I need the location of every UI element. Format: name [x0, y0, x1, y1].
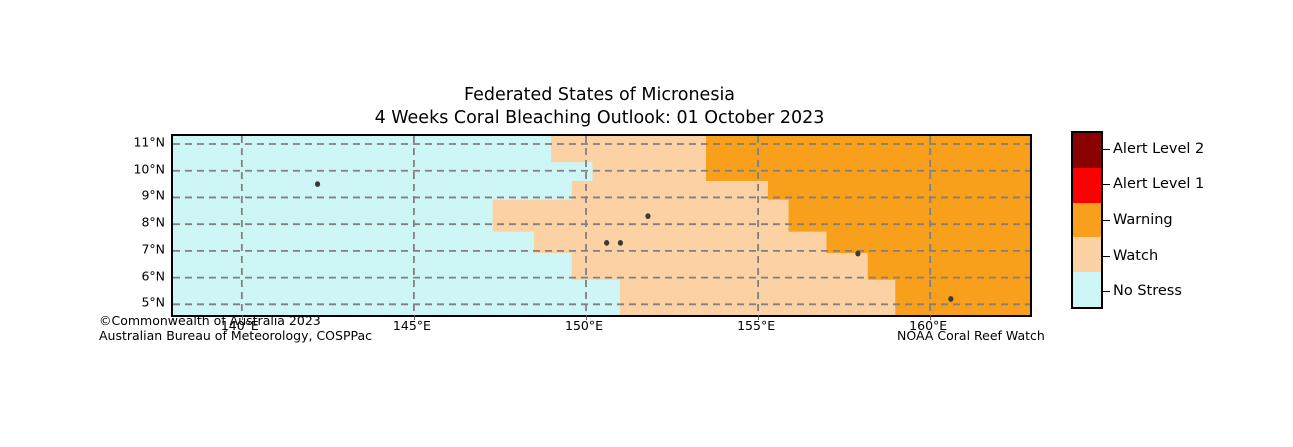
legend: Alert Level 2Alert Level 1WarningWatchNo…	[1071, 131, 1281, 313]
heatmap-cell	[868, 253, 1030, 281]
heatmap-cell	[551, 136, 707, 163]
island-marker	[618, 240, 623, 246]
heatmap-cell	[173, 253, 573, 281]
island-marker	[855, 251, 860, 257]
legend-swatch	[1073, 237, 1101, 272]
y-axis-labels: 11°N10°N9°N8°N7°N6°N5°N	[103, 134, 165, 313]
heatmap-cell	[173, 200, 494, 233]
heatmap-cell	[895, 280, 1030, 315]
x-axis-tick-label: 145°E	[393, 318, 431, 333]
legend-tick-mark	[1101, 220, 1110, 221]
copyright-line: ©Commonwealth of Australia 2023	[99, 314, 372, 329]
coral-bleaching-heatmap	[173, 136, 1030, 315]
page-title: Federated States of Micronesia	[171, 84, 1028, 107]
agency-line: Australian Bureau of Meteorology, COSPPa…	[99, 329, 372, 344]
heatmap-cell	[826, 232, 1030, 254]
chart-title-block: Federated States of Micronesia 4 Weeks C…	[171, 84, 1028, 130]
island-marker	[645, 213, 650, 219]
attribution-right: NOAA Coral Reef Watch	[897, 329, 1045, 344]
heatmap-cell	[592, 162, 707, 182]
legend-label: Warning	[1113, 212, 1173, 228]
legend-label: No Stress	[1113, 283, 1182, 299]
legend-label: Alert Level 2	[1113, 141, 1204, 157]
heatmap-cell	[173, 136, 552, 163]
legend-colorbar	[1071, 131, 1103, 309]
y-axis-tick-label: 7°N	[105, 241, 165, 256]
heatmap-cell	[706, 162, 1030, 182]
map-plot-frame	[171, 134, 1032, 317]
y-axis-tick-label: 8°N	[105, 215, 165, 230]
legend-tick-mark	[1101, 291, 1110, 292]
heatmap-cell	[493, 200, 790, 233]
heatmap-cell	[706, 136, 1030, 163]
heatmap-cell	[173, 162, 593, 182]
y-axis-tick-label: 6°N	[105, 268, 165, 283]
x-axis-tick-label: 150°E	[565, 318, 603, 333]
island-marker	[315, 181, 320, 187]
y-axis-tick-label: 11°N	[105, 135, 165, 150]
y-axis-tick-label: 5°N	[105, 295, 165, 310]
legend-swatch	[1073, 203, 1101, 238]
legend-swatch	[1073, 168, 1101, 203]
island-marker	[948, 296, 953, 302]
legend-label: Watch	[1113, 248, 1158, 264]
island-marker	[604, 240, 609, 246]
y-axis-tick-label: 10°N	[105, 161, 165, 176]
x-axis-tick-label: 155°E	[737, 318, 775, 333]
page-subtitle: 4 Weeks Coral Bleaching Outlook: 01 Octo…	[171, 107, 1028, 130]
legend-tick-mark	[1101, 149, 1110, 150]
legend-tick-mark	[1101, 184, 1110, 185]
legend-swatch	[1073, 272, 1101, 307]
legend-label: Alert Level 1	[1113, 176, 1204, 192]
map-svg	[173, 136, 1030, 315]
legend-swatch	[1073, 133, 1101, 168]
heatmap-cell	[173, 280, 621, 315]
legend-tick-mark	[1101, 256, 1110, 257]
heatmap-cell	[789, 200, 1030, 233]
attribution-left: ©Commonwealth of Australia 2023 Australi…	[99, 314, 372, 343]
y-axis-tick-label: 9°N	[105, 188, 165, 203]
heatmap-cell	[572, 253, 869, 281]
